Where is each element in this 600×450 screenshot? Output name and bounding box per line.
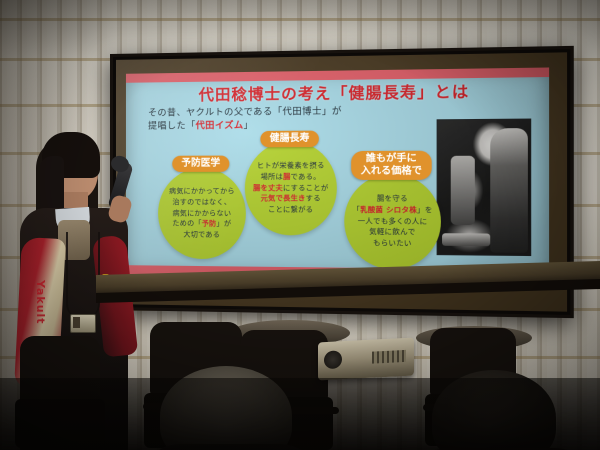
projector — [318, 337, 414, 380]
bubble-line-part: ための「 — [172, 220, 201, 228]
bubble-line: 治すのではなく、 — [169, 197, 235, 208]
slide-title: 代田稔博士の考え「健腸長寿」とは — [126, 79, 549, 106]
bubble-line-part: 「 — [352, 205, 360, 213]
bubble-line: 大切である — [169, 230, 235, 241]
bubble-line-part: 場所は — [261, 173, 283, 181]
bubble-line: 腸を丈夫にすることが — [253, 183, 328, 194]
bubble-line-part: にすることが — [283, 184, 328, 192]
bubble-body-text: 腸を守る 「乳酸菌 シロタ株」を 一人でも多くの人に 気軽に飲んで もらいたい — [346, 193, 439, 250]
bubble-body-circle: ヒトが栄養素を摂る 場所は腸である。 腸を丈夫にすることが 元気で長生きする こ… — [245, 141, 337, 236]
bubble-line: 気軽に飲んで — [352, 227, 432, 239]
bubble-line: ための「予防」が — [169, 219, 235, 230]
projector-lens — [324, 350, 342, 369]
presentation-scene-photo: 代田稔博士の考え「健腸長寿」とは その昔、ヤクルトの父である「代田博士」が 提唱… — [0, 0, 600, 450]
bubble-caption-line: 入れる価格で — [361, 165, 422, 177]
bubble-line-highlight: 腸を丈夫 — [253, 184, 283, 192]
bubble-line-highlight: 腸 — [283, 173, 291, 181]
bubble-line: 腸を守る — [352, 193, 432, 204]
bubble-caption: 健腸長寿 — [260, 131, 319, 148]
bubble-line: ことに繋がる — [253, 205, 328, 216]
lead-highlight: 代田イズム — [196, 121, 244, 132]
lead-suffix: 」 — [244, 121, 254, 131]
foreground-shadow — [0, 378, 600, 450]
bubble-line-part: である。 — [291, 172, 321, 180]
bubble-body-text: ヒトが栄養素を摂る 場所は腸である。 腸を丈夫にすることが 元気で長生きする こ… — [247, 160, 335, 216]
shirota-microscope-photo — [437, 119, 532, 257]
projector-vent — [372, 350, 406, 364]
bubble-line: 病気にかからない — [169, 208, 235, 219]
bubble-line-part: 」を — [417, 206, 433, 214]
bubble-caption: 誰もが手に 入れる価格で — [351, 151, 432, 180]
bubble-line-part: する — [306, 195, 321, 203]
bubble-line-highlight: 元気で長生き — [261, 195, 306, 203]
lead-prefix: 提唱した「 — [148, 121, 196, 131]
bubble-line-highlight: 乳酸菌 シロタ株 — [360, 206, 417, 215]
bubble-body-text: 病気にかかってから 治すのではなく、 病気にかからない ための「予防」が 大切で… — [163, 186, 241, 241]
bubble-caption-line: 誰もが手に — [361, 153, 422, 166]
bubble-line: ヒトが栄養素を摂る — [253, 160, 328, 171]
bubble-line: 一人でも多くの人に — [352, 216, 432, 228]
slide-bubble-kencho-choju: ヒトが栄養素を摂る 場所は腸である。 腸を丈夫にすることが 元気で長生きする こ… — [240, 130, 340, 243]
bubble-line: 「乳酸菌 シロタ株」を — [352, 204, 432, 216]
bubble-caption: 予防医学 — [172, 156, 229, 172]
bubble-line: 場所は腸である。 — [253, 171, 328, 182]
slide-lead-text: その昔、ヤクルトの父である「代田博士」が 提唱した「代田イズム」 — [148, 105, 419, 134]
bubble-body-circle: 病気にかかってから 治すのではなく、 病気にかからない ための「予防」が 大切で… — [158, 168, 246, 260]
bubble-line-part: 」が — [216, 220, 231, 228]
bubble-line: 元気で長生きする — [253, 194, 328, 205]
bubble-line-highlight: 予防 — [202, 220, 217, 228]
bubble-line: 病気にかかってから — [169, 186, 235, 197]
